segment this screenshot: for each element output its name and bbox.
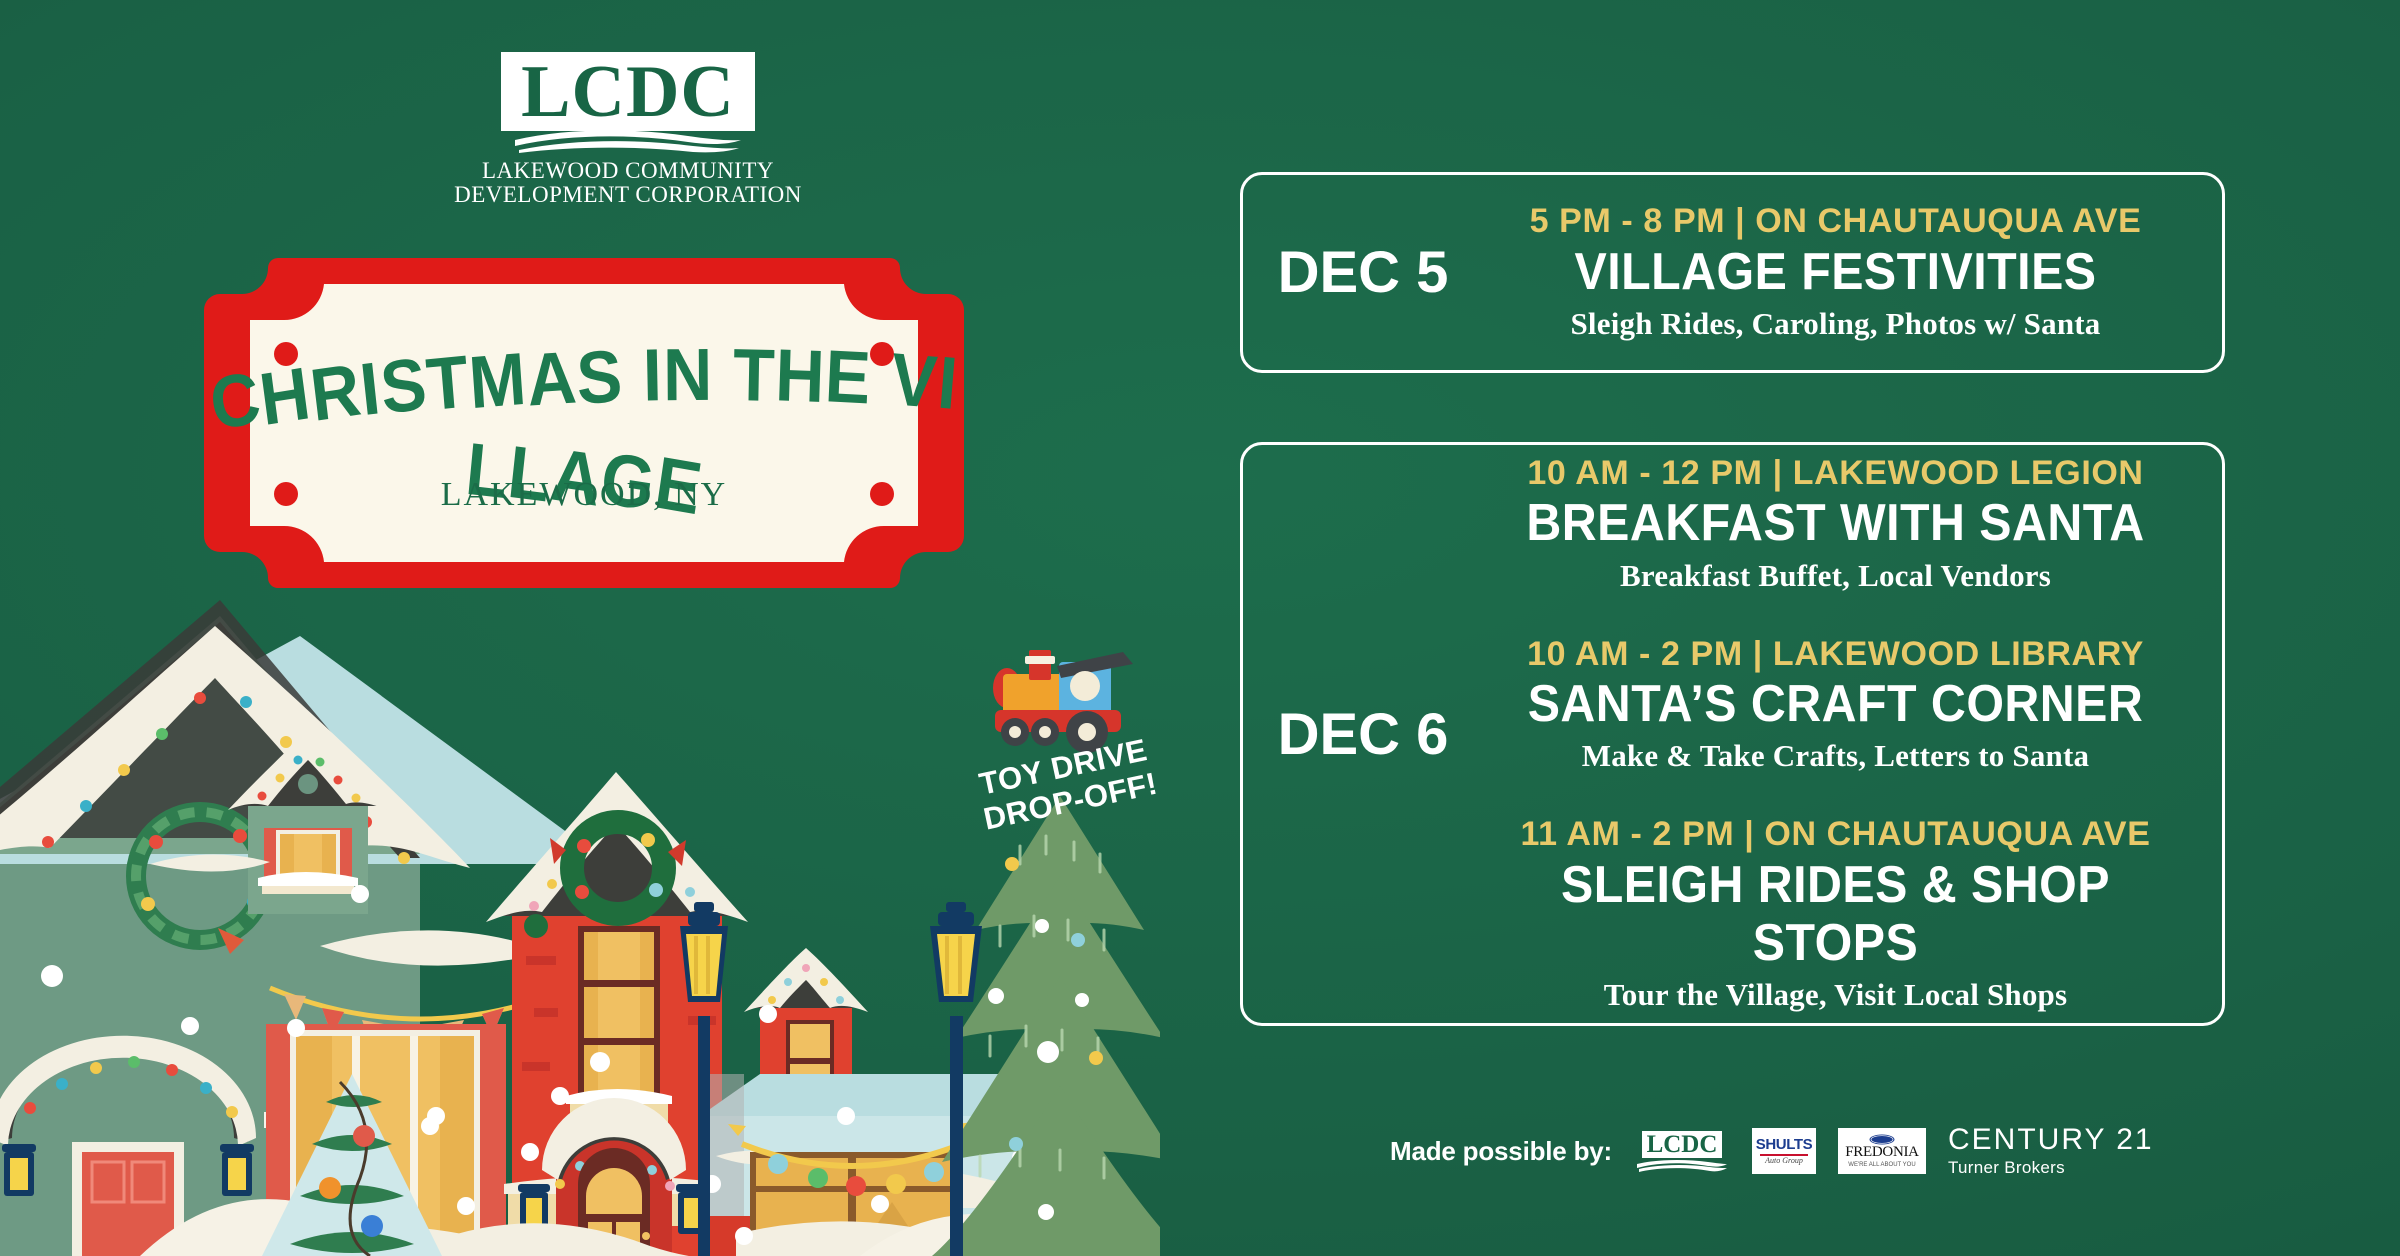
event-title: SLEIGH RIDES & SHOP STOPS — [1508, 856, 2164, 972]
event-village-festivities[interactable]: 5 PM - 8 PM|ON CHAUTAUQUA AVE VILLAGE FE… — [1483, 203, 2188, 342]
event-title-sign: CHRISTMAS IN THE VILLAGE LAKEWOOD, NY — [168, 258, 1000, 588]
event-title: VILLAGE FESTIVITIES — [1508, 243, 2164, 301]
event-separator: | — [1763, 454, 1793, 492]
lcdc-logo: LCDC LAKEWOOD COMMUNITY DEVELOPMENT CORP… — [418, 52, 838, 207]
event-santas-craft-corner[interactable]: 10 AM - 2 PM|LAKEWOOD LIBRARY SANTA’S CR… — [1483, 636, 2188, 775]
event-description: Breakfast Buffet, Local Vendors — [1483, 558, 2188, 594]
event-time: 10 AM - 2 PM — [1527, 635, 1743, 673]
poster-canvas: LCDC LAKEWOOD COMMUNITY DEVELOPMENT CORP… — [0, 0, 2400, 1256]
sponsor-logo-fredonia: FREDONIA WE'RE ALL ABOUT YOU — [1838, 1128, 1926, 1174]
event-description: Tour the Village, Visit Local Shops — [1483, 977, 2188, 1013]
lantern-icon — [2, 1144, 36, 1196]
schedule-card-dec6[interactable]: DEC 6 10 AM - 12 PM|LAKEWOOD LEGION BREA… — [1240, 442, 2225, 1026]
sponsor-lcdc-box: LCDC — [1642, 1131, 1723, 1158]
lcdc-subtitle-line2: DEVELOPMENT CORPORATION — [418, 183, 838, 207]
event-time: 5 PM - 8 PM — [1530, 202, 1726, 240]
event-separator: | — [1743, 635, 1773, 673]
lcdc-subtitle: LAKEWOOD COMMUNITY DEVELOPMENT CORPORATI… — [418, 159, 838, 208]
event-title: SANTA’S CRAFT CORNER — [1508, 675, 2164, 733]
card-date-dec6: DEC 6 — [1243, 701, 1483, 768]
event-sleigh-rides-shop-stops[interactable]: 11 AM - 2 PM|ON CHAUTAUQUA AVE SLEIGH RI… — [1483, 816, 2188, 1013]
sponsor-lcdc-mark: LCDC — [1647, 1132, 1718, 1157]
made-possible-label: Made possible by: — [1390, 1136, 1612, 1167]
card-events-dec6: 10 AM - 12 PM|LAKEWOOD LEGION BREAKFAST … — [1483, 455, 2222, 1013]
schedule-card-dec5[interactable]: DEC 5 5 PM - 8 PM|ON CHAUTAUQUA AVE VILL… — [1240, 172, 2225, 373]
lcdc-wordmark-box: LCDC — [501, 52, 755, 131]
card-events-dec5: 5 PM - 8 PM|ON CHAUTAUQUA AVE VILLAGE FE… — [1483, 203, 2222, 342]
event-description: Make & Take Crafts, Letters to Santa — [1483, 738, 2188, 774]
sponsor-logo-shults: SHULTS Auto Group — [1752, 1128, 1816, 1174]
event-breakfast-with-santa[interactable]: 10 AM - 12 PM|LAKEWOOD LEGION BREAKFAST … — [1483, 455, 2188, 594]
card-date-dec5: DEC 5 — [1243, 239, 1483, 306]
event-separator: | — [1734, 815, 1764, 853]
sponsor-logo-century21: CENTURY 21 Turner Brokers — [1948, 1125, 2154, 1178]
event-title: BREAKFAST WITH SANTA — [1508, 494, 2164, 552]
event-meta: 10 AM - 12 PM|LAKEWOOD LEGION — [1483, 455, 2188, 492]
toy-drive-callout: TOY DRIVE DROP-OFF! — [975, 640, 1165, 850]
lcdc-wordmark: LCDC — [521, 56, 735, 129]
event-time: 10 AM - 12 PM — [1527, 454, 1762, 492]
sponsor-fredonia-mark: FREDONIA — [1845, 1145, 1918, 1160]
sponsor-century21-tagline: Turner Brokers — [1948, 1158, 2154, 1178]
event-meta: 11 AM - 2 PM|ON CHAUTAUQUA AVE — [1483, 816, 2188, 853]
sponsor-fredonia-tagline: WE'RE ALL ABOUT YOU — [1848, 1162, 1915, 1168]
event-location: ON CHAUTAUQUA AVE — [1755, 202, 2141, 240]
sponsor-shults-mark: SHULTS — [1756, 1137, 1813, 1152]
event-location: ON CHAUTAUQUA AVE — [1764, 815, 2150, 853]
event-description: Sleigh Rides, Caroling, Photos w/ Santa — [1483, 306, 2188, 342]
sponsor-century21-mark: CENTURY 21 — [1948, 1125, 2154, 1155]
event-location: LAKEWOOD LIBRARY — [1773, 635, 2144, 673]
event-meta: 5 PM - 8 PM|ON CHAUTAUQUA AVE — [1483, 203, 2188, 240]
sponsor-lcdc-wave-icon — [1636, 1158, 1728, 1172]
sponsor-logo-lcdc: LCDC — [1634, 1128, 1730, 1174]
sponsor-footer: Made possible by: LCDC SHULTS Auto Group… — [1390, 1120, 2154, 1182]
event-meta: 10 AM - 2 PM|LAKEWOOD LIBRARY — [1483, 636, 2188, 673]
event-separator: | — [1725, 202, 1755, 240]
lantern-icon — [220, 1144, 254, 1196]
sign-subtitle: LAKEWOOD, NY — [168, 476, 1000, 514]
lcdc-subtitle-line1: LAKEWOOD COMMUNITY — [418, 159, 838, 183]
event-location: LAKEWOOD LEGION — [1793, 454, 2144, 492]
sponsor-shults-tagline: Auto Group — [1765, 1157, 1803, 1165]
event-time: 11 AM - 2 PM — [1521, 815, 1735, 853]
